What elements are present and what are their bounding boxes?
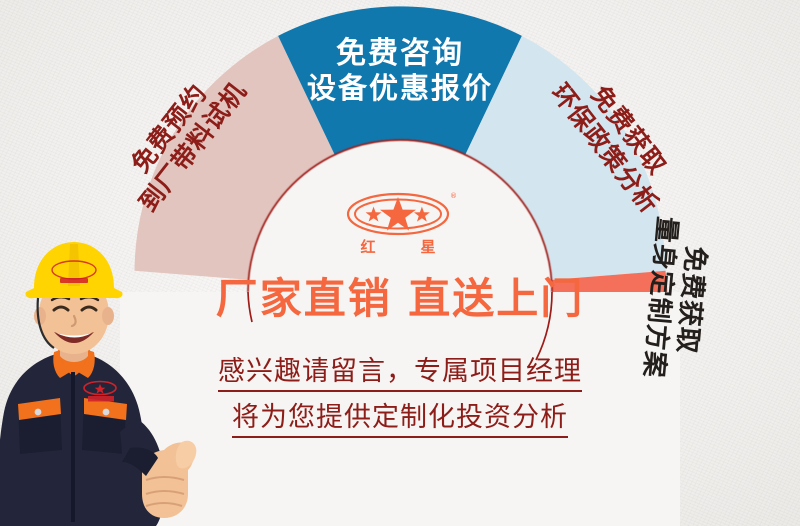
- worker-pocket-left-button: [35, 409, 42, 416]
- subtext-line-1-text: 感兴趣请留言，专属项目经理: [218, 358, 582, 392]
- logo-star-right: [414, 207, 430, 222]
- worker-chest-logo-text: [88, 396, 114, 402]
- worker-helmet-logo-text: [60, 278, 88, 283]
- worker-placket: [71, 372, 75, 522]
- page-title: 厂家直销 直送上门: [150, 278, 650, 320]
- worker-photo: [0, 236, 222, 526]
- logo-char-left: 红: [360, 238, 375, 256]
- subtext-line-2-text: 将为您提供定制化投资分析: [232, 404, 568, 438]
- subtext-line-2: 将为您提供定制化投资分析: [150, 404, 650, 438]
- worker-ear-right: [102, 307, 114, 325]
- worker-pocket-right-button: [103, 409, 110, 416]
- logo-star-center: [380, 197, 416, 231]
- subtext-line-1: 感兴趣请留言，专属项目经理: [150, 358, 650, 392]
- logo-star-left: [366, 207, 382, 222]
- logo-char-right: 星: [420, 238, 435, 256]
- hongxing-logo[interactable]: ® 红 星: [340, 186, 460, 266]
- logo-registered-mark: ®: [450, 192, 457, 200]
- promo-banner: 免费预约 到厂带料试机 免费咨询 设备优惠报价 免费获取 环保政策分析 免费获取…: [0, 0, 800, 526]
